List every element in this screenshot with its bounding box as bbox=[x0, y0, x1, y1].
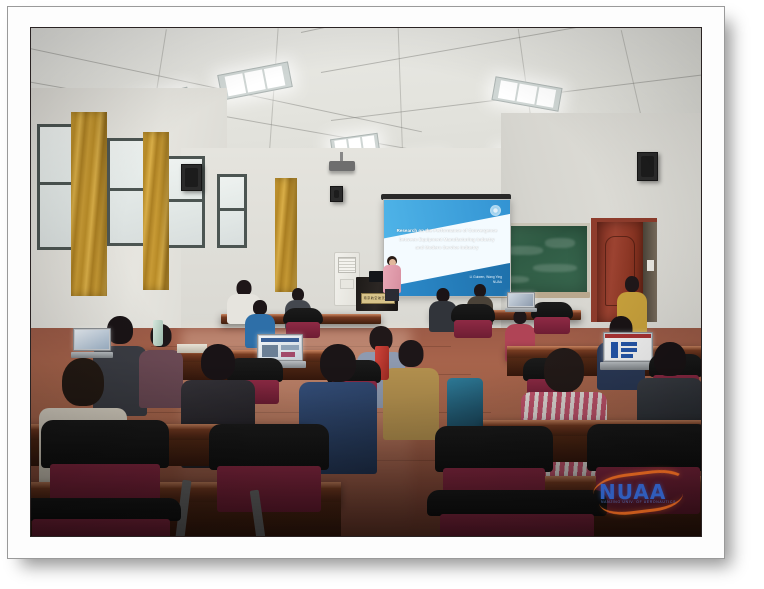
presentation-slide: Research on the Performance of Convergen… bbox=[384, 200, 510, 296]
presenter-lower bbox=[385, 289, 399, 301]
chair[interactable] bbox=[451, 304, 495, 338]
chair[interactable] bbox=[531, 302, 573, 334]
slide-title-line-3: and Modern Service Industry bbox=[390, 244, 504, 253]
photograph: Research on the Performance of Convergen… bbox=[30, 27, 702, 537]
chair-bottom-left[interactable] bbox=[30, 498, 181, 537]
chair-bottom-right[interactable] bbox=[427, 490, 607, 537]
projection-screen: Research on the Performance of Convergen… bbox=[383, 199, 511, 297]
chair-foreground-mid[interactable] bbox=[209, 424, 329, 512]
wall-speaker bbox=[181, 164, 202, 191]
laptop-front-left[interactable] bbox=[73, 328, 111, 358]
photo-frame: Research on the Performance of Convergen… bbox=[7, 6, 725, 559]
slide-title-line-1: Research on the Performance of Convergen… bbox=[390, 227, 504, 236]
wall-speaker bbox=[330, 186, 343, 202]
curtain bbox=[71, 112, 107, 296]
attendee-center-tan bbox=[383, 340, 439, 440]
laptop-back-right[interactable] bbox=[507, 292, 535, 312]
curtain bbox=[275, 178, 297, 292]
water-bottle bbox=[153, 320, 163, 346]
presenter bbox=[383, 256, 401, 301]
ac-control-panel bbox=[340, 279, 354, 289]
slide-title-line-2: between Equipment Manufacturing Industry bbox=[390, 236, 504, 245]
curtain bbox=[143, 132, 169, 290]
ceiling-projector bbox=[329, 161, 355, 171]
slide-title: Research on the Performance of Convergen… bbox=[390, 227, 504, 253]
window bbox=[217, 174, 247, 248]
university-seal-icon bbox=[490, 205, 501, 216]
door-notice-sign bbox=[647, 260, 654, 271]
wall-speaker bbox=[637, 152, 658, 181]
ac-grille-icon bbox=[338, 257, 356, 273]
